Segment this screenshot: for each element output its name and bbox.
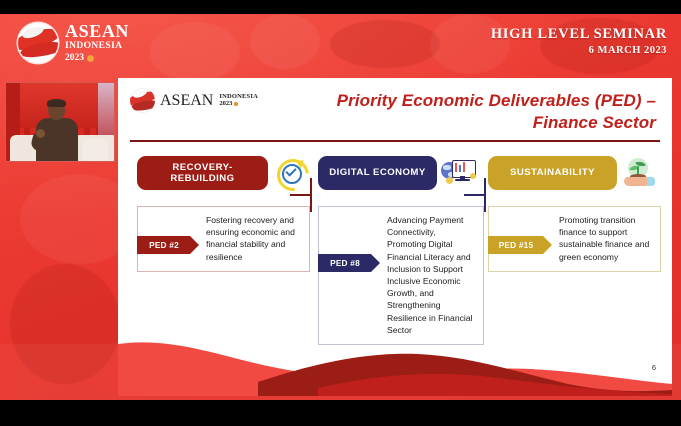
ped-tag-8: PED #8 [318, 254, 371, 272]
presentation-slide[interactable]: ASEAN INDONESIA 2023 Priority Economic D… [118, 78, 672, 396]
speaker-video-thumbnail[interactable] [5, 82, 115, 162]
ped-tag-15: PED #15 [488, 236, 543, 254]
slide-logo-subtext: INDONESIA 2023 [219, 94, 258, 108]
pillars-container: RECOVERY-REBUILDING PED #2 Fostering rec… [130, 156, 660, 336]
pillar-label-sustainability[interactable]: SUSTAINABILITY [488, 156, 617, 190]
screen: ASEAN INDONESIA 2023 HIGH LEVEL SEMINAR … [0, 0, 681, 426]
ped-card-15[interactable]: PED #15 Promoting transition finance to … [488, 206, 661, 272]
ped-text-8: Advancing Payment Connectivity, Promotin… [387, 214, 475, 336]
seminar-title: HIGH LEVEL SEMINAR [491, 26, 667, 43]
globe-monitor-icon [440, 156, 476, 190]
letterbox-bottom [0, 400, 681, 426]
ped-text-2: Fostering recovery and ensuring economic… [206, 214, 301, 263]
pillar-header-digital: DIGITAL ECONOMY [318, 156, 476, 190]
pillar-header-recovery: RECOVERY-REBUILDING [137, 156, 307, 190]
hand-sprout-icon [620, 156, 656, 190]
asean-year-text: 2023 [65, 54, 129, 64]
slide-asean-emblem-icon [130, 88, 155, 113]
pillar-header-sustainability: SUSTAINABILITY [488, 156, 656, 190]
slide-wave-decoration [118, 326, 672, 396]
asean-country-text: INDONESIA [65, 42, 129, 52]
ped-text-15: Promoting transition finance to support … [559, 214, 652, 263]
seminar-date: 6 MARCH 2023 [491, 45, 667, 56]
title-divider [130, 140, 660, 142]
batik-motif [250, 14, 320, 69]
video-sofa-right [82, 139, 108, 161]
asean-emblem-icon [18, 23, 58, 63]
slide-title-line1: Priority Economic Deliverables (PED) – [286, 90, 656, 112]
slide-title-line2: Finance Sector [286, 112, 656, 134]
slide-year-text: 2023 [219, 101, 232, 108]
pillar-column-sustainability: SUSTAINABILITY PED #15 Promoting transit… [488, 156, 656, 272]
asean-header-wordmark: ASEAN INDONESIA 2023 [65, 22, 129, 63]
slide-title: Priority Economic Deliverables (PED) – F… [286, 90, 656, 134]
slide-page-number: 6 [652, 363, 656, 372]
ped-card-8[interactable]: PED #8 Advancing Payment Connectivity, P… [318, 206, 484, 345]
seminar-header: HIGH LEVEL SEMINAR 6 MARCH 2023 [491, 26, 667, 56]
pillar-column-recovery: RECOVERY-REBUILDING PED #2 Fostering rec… [137, 156, 307, 272]
asean-brand-text: ASEAN [65, 22, 129, 40]
pillar-column-digital: DIGITAL ECONOMY PED #8 Advancing Payment… [318, 156, 476, 345]
asean-year-value: 2023 [65, 54, 84, 64]
asean-header-logo: ASEAN INDONESIA 2023 [18, 22, 129, 63]
slide-asean-logo: ASEAN INDONESIA 2023 [130, 88, 258, 113]
slide-year-row: 2023 [219, 101, 258, 108]
batik-motif [330, 20, 440, 68]
pillar-label-recovery[interactable]: RECOVERY-REBUILDING [137, 156, 268, 190]
recovery-check-icon [271, 156, 307, 190]
speaker-hair [47, 99, 66, 107]
speaker-hand [36, 129, 45, 138]
slide-dot-icon [234, 102, 238, 106]
batik-motif [150, 22, 240, 82]
slide-brand-text: ASEAN [160, 93, 213, 109]
ped-tag-2: PED #2 [137, 236, 190, 254]
ped-card-2[interactable]: PED #2 Fostering recovery and ensuring e… [137, 206, 310, 272]
letterbox-top [0, 0, 681, 14]
pillar-label-digital[interactable]: DIGITAL ECONOMY [318, 156, 437, 190]
asean-dot-icon [87, 55, 94, 62]
